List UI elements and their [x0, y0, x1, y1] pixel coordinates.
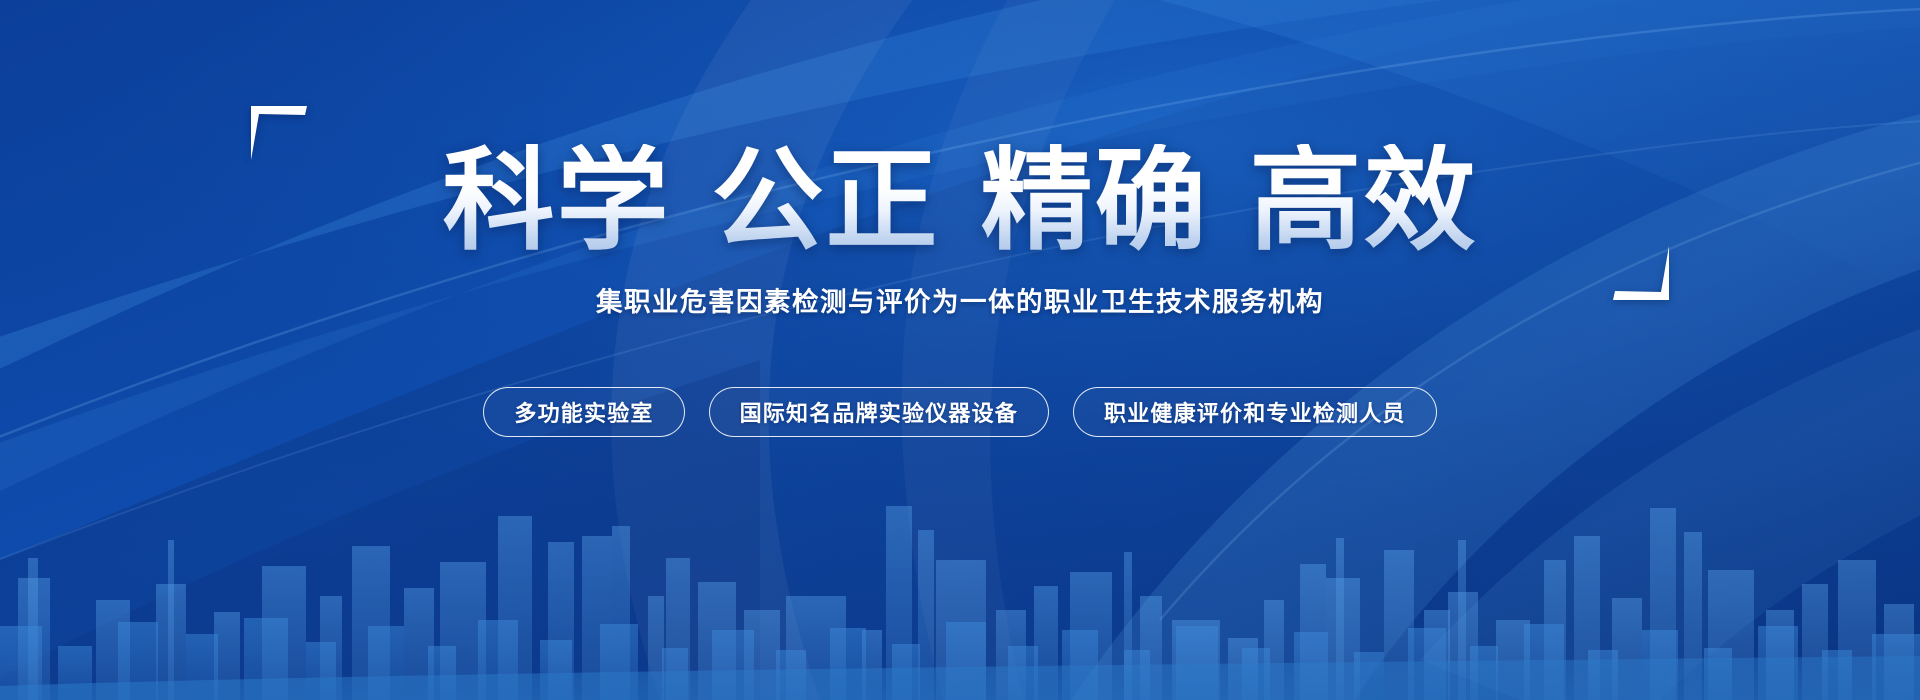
- page-subtitle: 集职业危害因素检测与评价为一体的职业卫生技术服务机构: [596, 280, 1324, 319]
- corner-bracket-open-icon: [248, 102, 310, 164]
- feature-pill-group: 多功能实验室 国际知名品牌实验仪器设备 职业健康评价和专业检测人员: [483, 387, 1436, 437]
- feature-pill-label: 国际知名品牌实验仪器设备: [740, 396, 1018, 428]
- hero-banner: 科学 公正 精确 高效 集职业危害因素检测与评价为一体的职业卫生技术服务机构 多…: [0, 0, 1920, 700]
- feature-pill-equipment[interactable]: 国际知名品牌实验仪器设备: [709, 387, 1049, 437]
- banner-content: 科学 公正 精确 高效 集职业危害因素检测与评价为一体的职业卫生技术服务机构 多…: [0, 0, 1920, 700]
- feature-pill-label: 多功能实验室: [514, 396, 653, 428]
- title-block: 科学 公正 精确 高效: [320, 144, 1600, 258]
- feature-pill-label: 职业健康评价和专业检测人员: [1104, 396, 1406, 428]
- feature-pill-staff[interactable]: 职业健康评价和专业检测人员: [1073, 387, 1437, 437]
- feature-pill-lab[interactable]: 多功能实验室: [483, 387, 684, 437]
- page-title: 科学 公正 精确 高效: [443, 144, 1478, 258]
- corner-bracket-close-icon: [1610, 242, 1672, 304]
